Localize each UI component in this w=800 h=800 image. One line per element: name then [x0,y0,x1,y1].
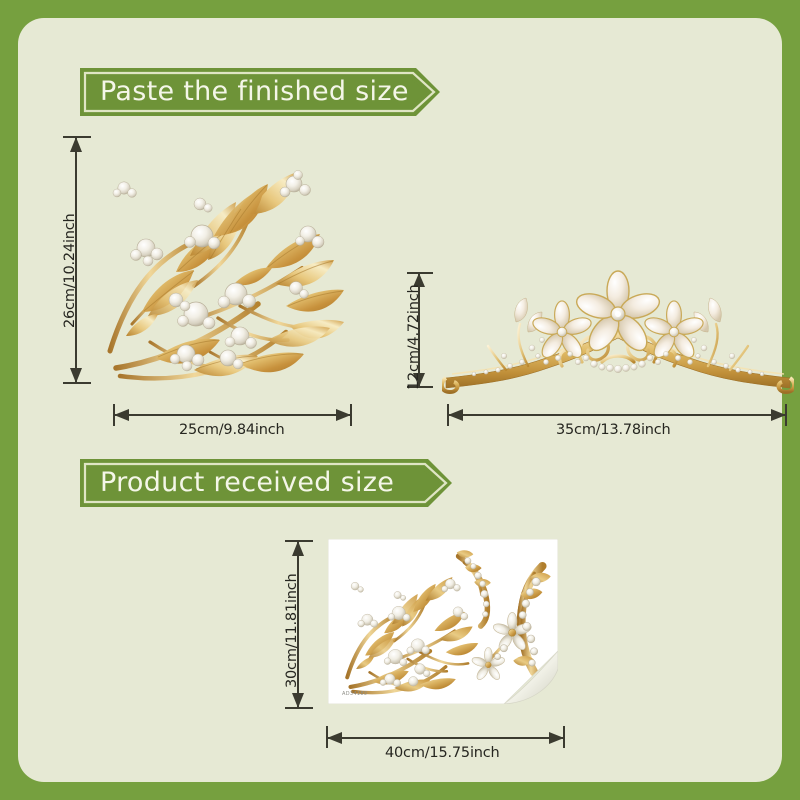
product-code: AD34180 [342,691,367,697]
arrow-left [114,408,130,422]
arrow-down [69,367,83,383]
infographic-page: Paste the finished size [0,0,800,800]
gold-leaf-branch-svg [90,136,350,391]
dimension-label-width: 40cm/15.75inch [385,745,500,761]
floral-tiara-svg [442,270,794,395]
dim-shaft [115,414,350,416]
arrow-up [291,541,305,557]
sticker-sheet-svg: AD34180 [328,539,558,704]
arrow-left [448,408,464,422]
dimension-label-width: 35cm/13.78inch [556,422,671,438]
banner-label: Product received size [100,459,394,507]
gold-leaf-branch-artwork [90,136,350,391]
dimension-label-width: 25cm/9.84inch [179,422,285,438]
arrow-up [69,137,83,153]
dimension-label-height: 30cm/11.81inch [284,573,300,688]
sticker-sheet: AD34180 [328,539,558,704]
arrow-right [548,731,564,745]
arrow-down [291,692,305,708]
arrow-right [335,408,351,422]
dim-shaft [449,414,785,416]
dimension-label-height: 26cm/10.24inch [62,213,78,328]
banner-label: Paste the finished size [100,68,409,116]
inner-panel: Paste the finished size [18,18,782,782]
dim-shaft [328,737,563,739]
arrow-left [327,731,343,745]
floral-tiara-artwork [442,270,794,395]
arrow-right [770,408,786,422]
dimension-label-height: 12cm/4.72inch [406,285,422,391]
banner-product-received-size: Product received size [80,459,452,507]
banner-paste-finished-size: Paste the finished size [80,68,440,116]
